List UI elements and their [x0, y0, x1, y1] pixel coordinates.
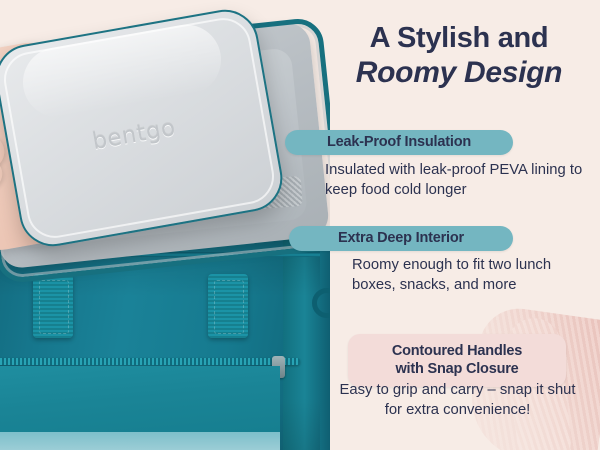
headline-line-1: A Stylish and: [330, 22, 588, 54]
feature-badge-line-2: with Snap Closure: [366, 360, 548, 378]
feature-description-contoured-handles: Easy to grip and carry – snap it shut fo…: [330, 381, 585, 420]
handle-strap-left: [33, 274, 73, 338]
product-photo: bentgo: [0, 0, 330, 450]
lunch-bag-base: [0, 432, 280, 450]
handle-strap-right: [208, 274, 248, 338]
feature-badge-contoured-handles: Contoured Handles with Snap Closure: [348, 334, 566, 387]
strap-stitching: [214, 280, 244, 334]
feature-badge-leak-proof-insulation: Leak-Proof Insulation: [285, 130, 513, 155]
feature-description-extra-deep-interior: Roomy enough to fit two lunch boxes, sna…: [352, 256, 592, 295]
headline-line-2: Roomy Design: [330, 56, 588, 90]
product-feature-infographic: bentgo A Stylish and Roomy Design Leak-P…: [0, 0, 600, 450]
feature-badge-extra-deep-interior: Extra Deep Interior: [289, 226, 513, 251]
feature-description-leak-proof-insulation: Insulated with leak-proof PEVA lining to…: [325, 161, 591, 200]
front-pocket-zipper: [0, 358, 300, 365]
finger: [0, 156, 5, 199]
feature-badge-line-1: Contoured Handles: [366, 342, 548, 360]
strap-stitching: [39, 280, 69, 334]
page-title: A Stylish and Roomy Design: [330, 22, 588, 90]
